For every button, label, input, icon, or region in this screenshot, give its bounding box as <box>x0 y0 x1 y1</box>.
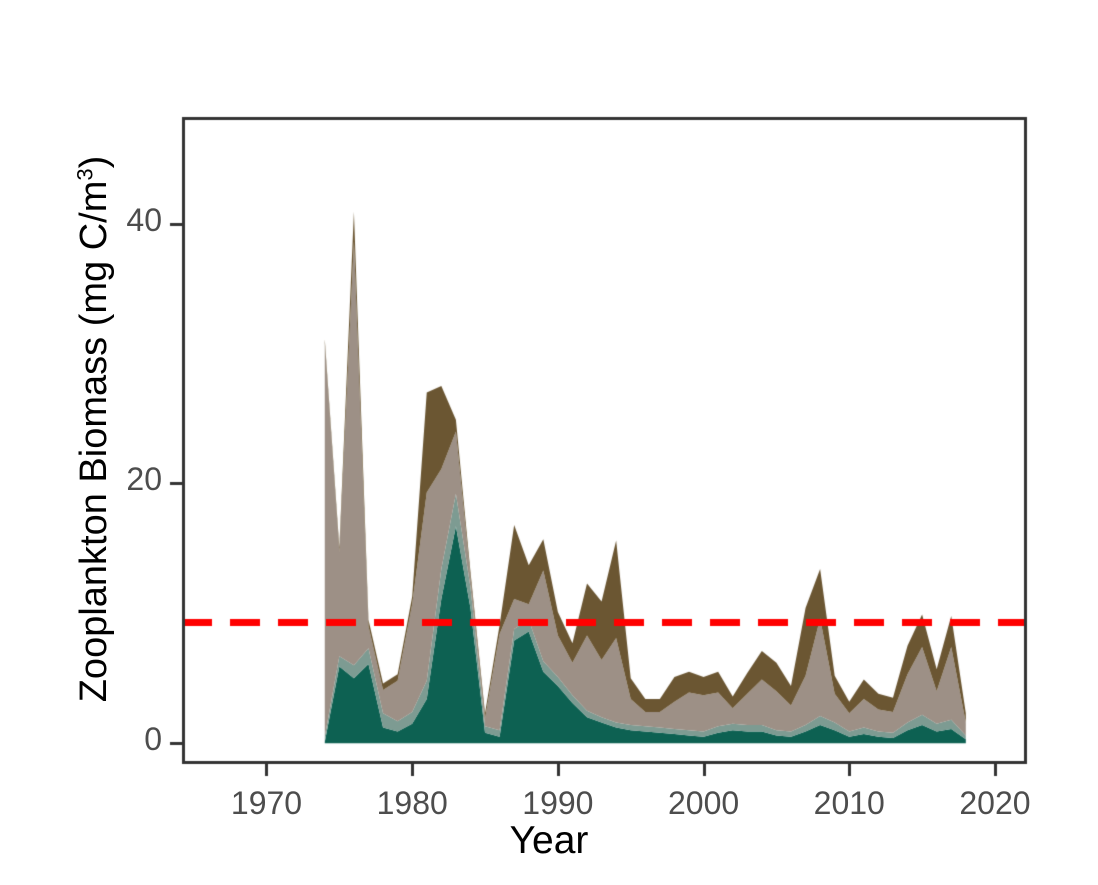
y-axis-title-container: Zooplankton Biomass (mg C/m3) <box>69 99 119 759</box>
x-axis-tick-label-2010: 2010 <box>779 785 919 822</box>
y-axis-title-exponent: 3 <box>72 168 97 180</box>
y-axis-title-main: Zooplankton Biomass (mg C/m <box>73 181 115 703</box>
y-axis-title: Zooplankton Biomass (mg C/m3) <box>69 99 119 759</box>
x-axis-tick-label-1990: 1990 <box>488 785 628 822</box>
x-axis-tick-label-2020: 2020 <box>925 785 1065 822</box>
chart-page: 0 20 40 1970 1980 1990 2000 2010 2020 Ye… <box>0 0 1098 885</box>
x-axis-tick-label-1970: 1970 <box>197 785 337 822</box>
zooplankton-biomass-stacked-area-chart <box>0 0 1098 885</box>
y-axis-title-suffix: ) <box>73 156 115 169</box>
x-axis-tick-label-2000: 2000 <box>634 785 774 822</box>
x-axis-tick-label-1980: 1980 <box>342 785 482 822</box>
x-axis-title: Year <box>0 818 1098 864</box>
